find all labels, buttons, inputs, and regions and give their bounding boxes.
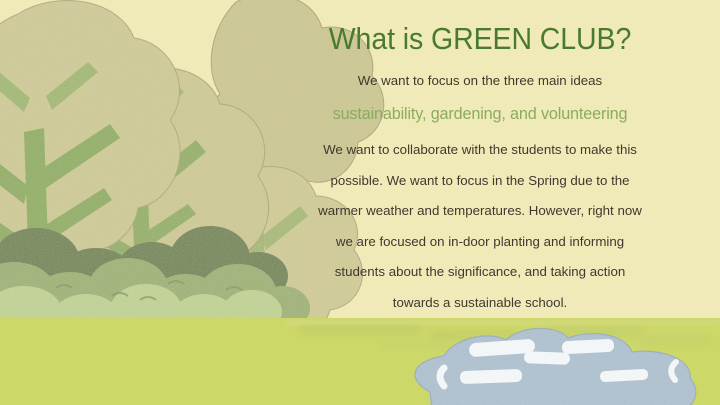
page-title: What is GREEN CLUB?: [289, 0, 672, 56]
accent-text: sustainability, gardening, and volunteer…: [272, 90, 688, 124]
slide: What is GREEN CLUB? We want to focus on …: [0, 0, 720, 405]
body-line: possible. We want to focus in the Spring…: [272, 166, 688, 197]
body-paragraph: We want to collaborate with the students…: [272, 124, 688, 318]
body-line: students about the significance, and tak…: [272, 257, 688, 288]
lead-text: We want to focus on the three main ideas: [272, 56, 688, 90]
body-line: we are focused on in-door planting and i…: [272, 227, 688, 258]
body-line: warmer weather and temperatures. However…: [272, 196, 688, 227]
text-content: What is GREEN CLUB? We want to focus on …: [272, 0, 688, 405]
body-line: towards a sustainable school.: [272, 288, 688, 319]
body-line: We want to collaborate with the students…: [272, 135, 688, 166]
